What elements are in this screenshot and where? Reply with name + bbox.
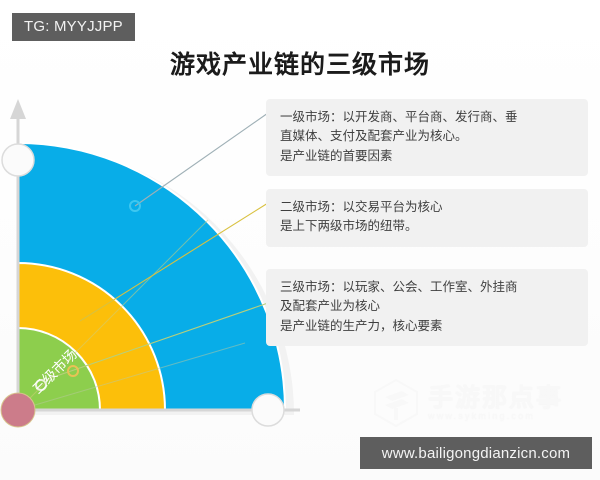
watermark-title: 手游那点事 [428,385,563,411]
annotation-tier-3-line-3: 是产业链的生产力，核心要素 [280,317,576,336]
page-title: 游戏产业链的三级市场 [0,45,600,81]
leader-line-tier-1 [135,113,268,206]
axis-node-right[interactable] [252,394,284,426]
annotation-tier-3-line-2: 及配套产业为核心 [280,297,576,316]
annotation-tier-1-line-1: 一级市场：以开发商、平台商、发行商、垂 [280,108,576,127]
axis-node-top[interactable] [2,144,34,176]
screenshot-canvas: TG: MYYJJPP 游戏产业链的三级市场 [0,0,600,480]
three-tier-market-diagram: 三级市场 [0,85,300,430]
telegram-handle-badge: TG: MYYJJPP [12,13,135,41]
site-watermark: 手游那点事 www.sykming.com [372,372,594,434]
annotation-tier-1-line-2: 直媒体、支付及配套产业为核心。 [280,127,576,146]
annotation-tier-2: 二级市场：以交易平台为核心 是上下两级市场的纽带。 [266,189,588,247]
annotation-tier-3-line-1: 三级市场：以玩家、公会、工作室、外挂商 [280,278,576,297]
annotation-tier-1-line-3: 是产业链的首要因素 [280,147,576,166]
watermark-subtitle: www.sykming.com [428,411,563,421]
annotation-tier-3: 三级市场：以玩家、公会、工作室、外挂商 及配套产业为核心 是产业链的生产力，核心… [266,269,588,346]
origin-dot[interactable] [1,393,35,427]
annotation-tier-2-line-2: 是上下两级市场的纽带。 [280,217,576,236]
cube-logo-icon [372,378,420,428]
annotation-tier-1: 一级市场：以开发商、平台商、发行商、垂 直媒体、支付及配套产业为核心。 是产业链… [266,99,588,176]
site-url-bar: www.bailigongdianzicn.com [360,437,592,469]
annotation-tier-2-line-1: 二级市场：以交易平台为核心 [280,198,576,217]
